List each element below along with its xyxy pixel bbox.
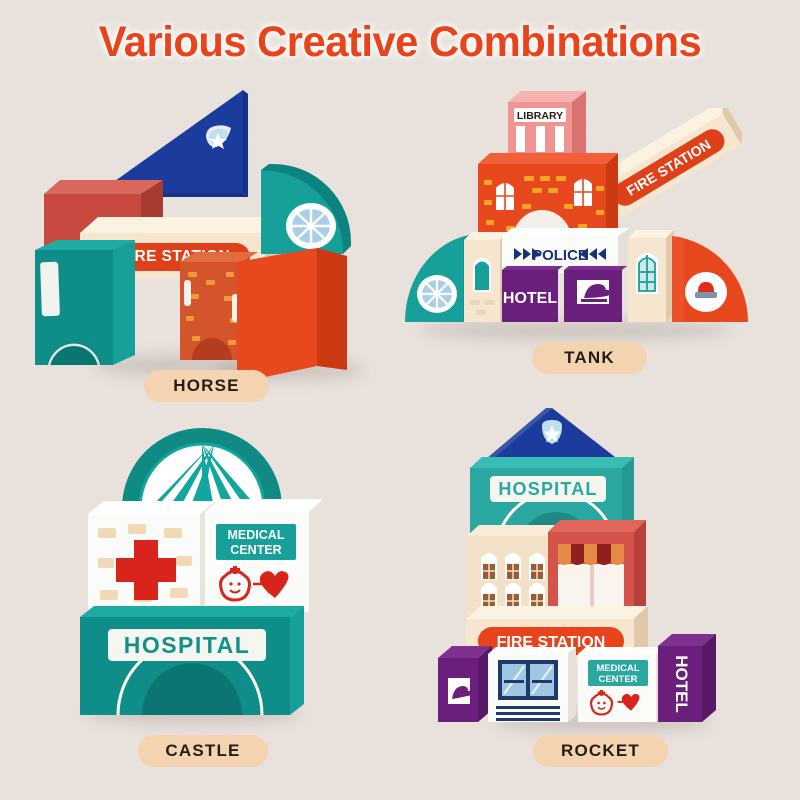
cream-block-window <box>628 228 674 322</box>
svg-text:LIBRARY: LIBRARY <box>517 110 563 122</box>
shadow <box>420 320 730 340</box>
rect-block-orange <box>237 248 347 383</box>
blue-window-block <box>488 646 580 722</box>
horse-block-build: FIRE STATION <box>0 80 400 410</box>
quarter-circle-orange-siren <box>670 230 750 322</box>
hospital-arch-teal: HOSPITAL <box>80 605 312 715</box>
label-horse: HORSE <box>144 370 269 402</box>
svg-text:CENTER: CENTER <box>230 543 281 557</box>
panel-horse: FIRE STATION <box>0 80 400 410</box>
label-castle: CASTLE <box>138 735 268 767</box>
label-tank-text: TANK <box>564 348 615 367</box>
tank-block-build: FIRE STATION LIBRARY <box>400 80 800 410</box>
hotel-block-purple: HOTEL <box>658 632 720 722</box>
label-rocket-text: ROCKET <box>561 741 640 760</box>
purple-block-icon <box>564 266 630 322</box>
svg-text:HOSPITAL: HOSPITAL <box>60 261 72 316</box>
striped-dome-teal <box>118 418 286 508</box>
purple-block-icon <box>438 644 494 722</box>
svg-text:HOSPITAL: HOSPITAL <box>498 479 597 499</box>
label-castle-text: CASTLE <box>165 741 240 760</box>
svg-text:POLICE: POLICE <box>532 247 588 264</box>
castle-block-build: MEDICAL CENTER <box>0 400 400 800</box>
toy-blocks-poster: Various Creative Combinations <box>0 0 800 800</box>
label-rocket: ROCKET <box>533 735 668 767</box>
panel-tank: FIRE STATION LIBRARY <box>400 80 800 410</box>
svg-text:HOTEL: HOTEL <box>503 290 557 307</box>
panel-castle: MEDICAL CENTER <box>0 400 400 800</box>
rocket-block-build: HOSPITAL <box>400 400 800 800</box>
svg-text:HOSPITAL: HOSPITAL <box>124 632 251 658</box>
white-cube-red-cross <box>88 500 216 612</box>
page-title: Various Creative Combinations <box>12 18 788 67</box>
medical-center-block: MEDICAL CENTER <box>578 646 668 722</box>
arch-block-teal-hospital: HOSPITAL <box>35 240 155 365</box>
label-tank: TANK <box>532 342 647 374</box>
svg-text:HOTEL: HOTEL <box>672 655 691 713</box>
svg-text:MEDICAL: MEDICAL <box>596 663 639 674</box>
panel-rocket: HOSPITAL <box>400 400 800 800</box>
label-horse-text: HORSE <box>173 376 239 395</box>
hotel-block-purple: HOTEL <box>502 266 564 322</box>
svg-text:MEDICAL: MEDICAL <box>228 528 285 542</box>
svg-text:CENTER: CENTER <box>598 674 637 685</box>
medical-center-cube: MEDICAL CENTER <box>205 498 325 612</box>
